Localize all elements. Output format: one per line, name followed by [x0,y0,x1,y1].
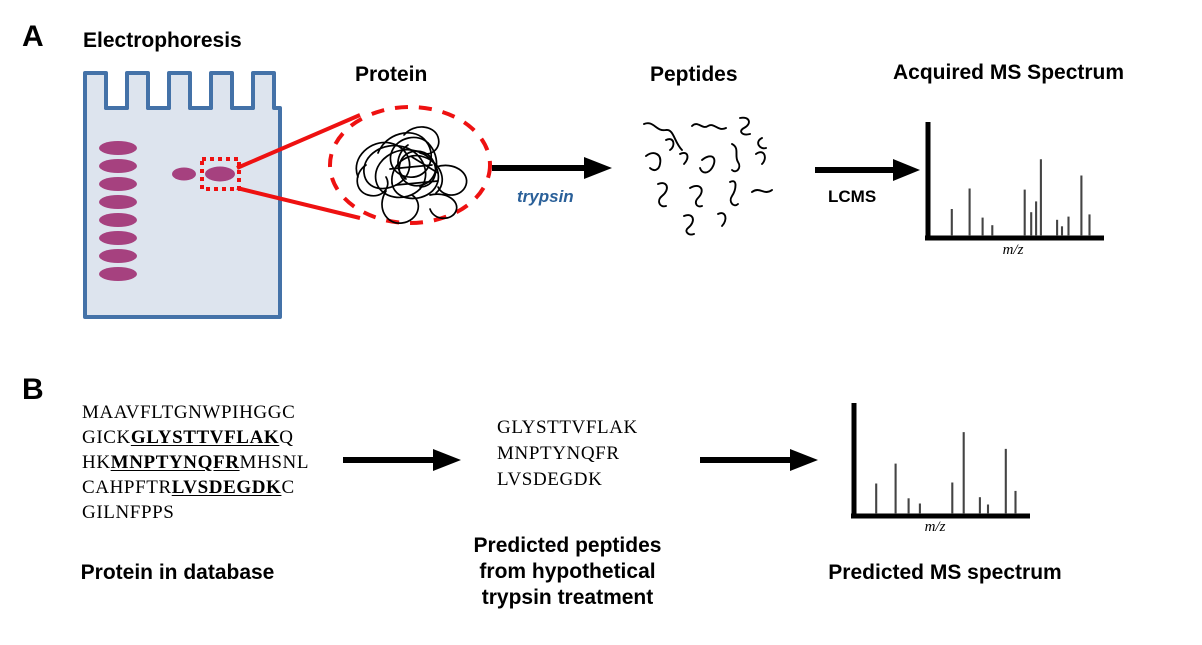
heading-peptides: Peptides [650,64,738,85]
spectrum-peaks [952,159,1090,236]
heading-protein: Protein [355,64,427,85]
caption-line: from hypothetical [425,559,710,585]
gel-band [99,141,137,155]
sequence-text: GICK [82,427,131,448]
protein-chain [356,127,466,223]
highlighted-peptide: LVSDEGDK [172,477,282,498]
gel-band [99,213,137,227]
arrow-sequence-to-peptides [343,447,461,473]
arrow-peptides-to-spectrum [700,447,818,473]
panel-a-letter: A [22,22,44,52]
peptide-squiggle [756,152,765,164]
gel-band [99,195,137,209]
caption-predicted-ms-spectrum: Predicted MS spectrum [795,560,1095,586]
peptide-squiggle [646,153,660,170]
peptide-squiggle [730,181,738,205]
arrow-label-lcms: LCMS [828,188,876,205]
sequence-text: GILNFPPS [82,502,174,523]
gel-band [99,231,137,245]
caption-protein-in-database: Protein in database [50,560,305,586]
sequence-text: C [281,477,294,498]
peptide-squiggle [692,124,726,129]
predicted-peptides-list: GLYSTTVFLAKMNPTYNQFRLVSDEGDK [497,415,638,493]
peptide-squiggle [700,156,714,172]
arrow-trypsin [492,155,612,181]
sequence-line: GICKGLYSTTVFLAKQ [82,425,309,450]
sequence-text: CAHPFTR [82,477,172,498]
sequence-line: HKMNPTYNQFRMHSNL [82,450,309,475]
figure-canvas: A Electrophoresis Protein Peptides Acqui… [0,0,1202,645]
spectrum-peaks [876,432,1015,514]
panel-b-letter: B [22,375,44,405]
highlighted-peptide: GLYSTTVFLAK [131,427,279,448]
heading-acquired-ms-spectrum: Acquired MS Spectrum [893,62,1124,83]
sequence-line: MAAVFLTGNWPIHGGC [82,400,309,425]
caption-line: Predicted peptides [425,533,710,559]
peptide-squiggle [740,118,750,135]
sequence-line: CAHPFTRLVSDEGDKC [82,475,309,500]
gel-band [99,249,137,263]
arrow-label-trypsin: trypsin [517,188,574,205]
peptide-squiggle [684,215,694,234]
heading-electrophoresis: Electrophoresis [83,30,242,51]
axis-label-mz-predicted: m/z [900,520,970,535]
arrow-lcms [815,157,920,183]
peptide-squiggle [644,123,682,150]
caption-predicted-peptides: Predicted peptidesfrom hypotheticaltryps… [425,533,710,611]
gel-band [99,159,137,173]
sequence-line: GILNFPPS [82,500,309,525]
sequence-text: HK [82,452,111,473]
peptide-squiggle [752,190,772,192]
peptide-squiggle [680,153,687,164]
sequence-text: MHSNL [240,452,310,473]
peptide-squiggle [666,139,673,150]
gel-band [99,177,137,191]
axis-label-mz-acquired: m/z [978,243,1048,258]
gel-band-selected [205,167,235,182]
predicted-peptide: GLYSTTVFLAK [497,415,638,441]
chart-acquired-ms-spectrum [922,122,1107,252]
peptide-squiggle [690,186,702,206]
caption-line: trypsin treatment [425,585,710,611]
peptide-squiggle [658,183,667,206]
protein-sequence-block: MAAVFLTGNWPIHGGCGICKGLYSTTVFLAKQHKMNPTYN… [82,400,309,525]
gel-band [99,267,137,281]
sequence-text: MAAVFLTGNWPIHGGC [82,402,295,423]
sequence-text: Q [279,427,293,448]
predicted-peptide: LVSDEGDK [497,467,638,493]
protein-blob [320,95,500,235]
chart-predicted-ms-spectrum [848,403,1033,529]
gel-band-sample [172,168,196,181]
highlighted-peptide: MNPTYNQFR [111,452,240,473]
peptide-squiggle [732,144,739,171]
peptides-cloud [640,110,780,240]
predicted-peptide: MNPTYNQFR [497,441,638,467]
peptide-squiggle [718,213,725,226]
peptide-squiggle [758,138,766,148]
